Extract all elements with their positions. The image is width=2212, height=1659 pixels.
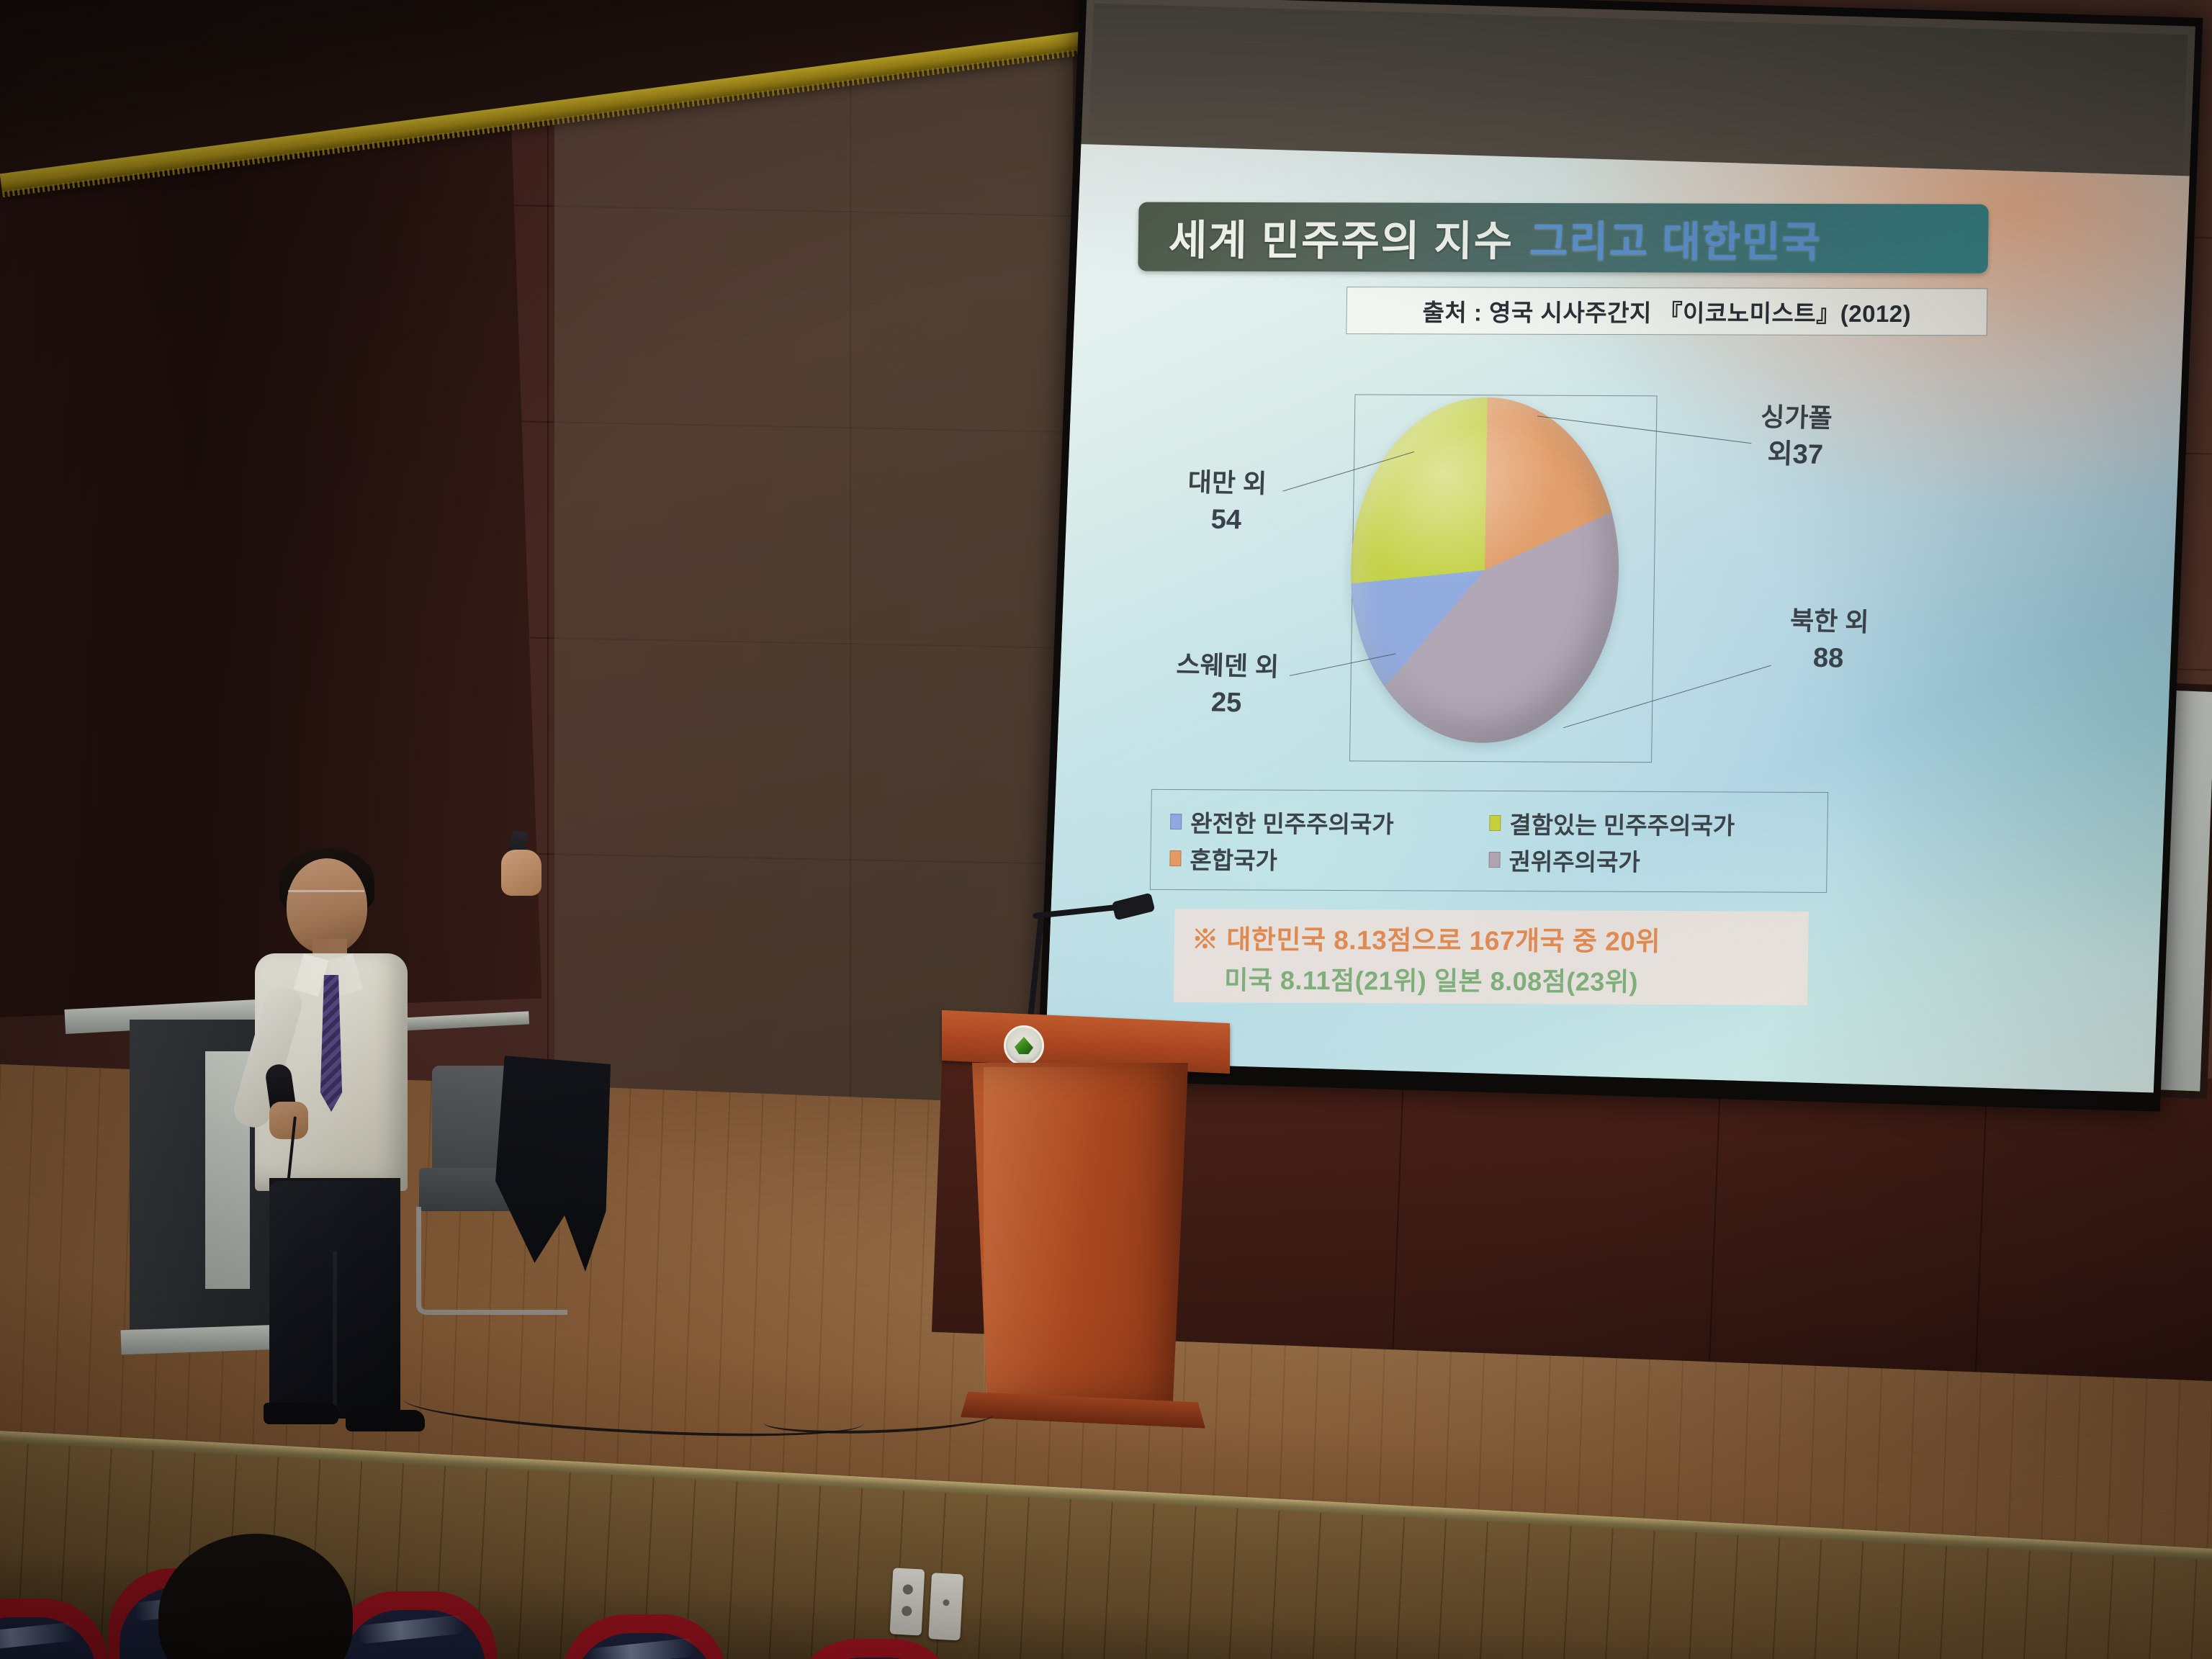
legend-label-full-democracy: 완전한 민주주의국가 bbox=[1190, 804, 1394, 840]
presenter-raised-hand bbox=[501, 850, 541, 896]
pie-label-taiwan-name: 대만 외 bbox=[1187, 467, 1267, 498]
glasses-icon bbox=[288, 890, 364, 902]
leaf-icon bbox=[1015, 1037, 1033, 1054]
slide-source-text: 출처 : 영국 시사주간지 『이코노미스트』(2012) bbox=[1422, 293, 1911, 329]
presenter bbox=[238, 848, 540, 1424]
legend-item-authoritarian: 권위주의국가 bbox=[1488, 842, 1808, 878]
pie-label-northkorea: 북한 외 88 bbox=[1789, 604, 1870, 677]
slide-title-main: 세계 민주주의 지수 bbox=[1168, 207, 1514, 268]
seat-row-item bbox=[0, 1599, 108, 1659]
seat-row-item bbox=[792, 1639, 958, 1659]
pie-label-taiwan: 대만 외 54 bbox=[1186, 466, 1267, 539]
legend-label-flawed-democracy: 결함있는 민주주의국가 bbox=[1509, 806, 1735, 841]
presenter-leg-seam bbox=[333, 1251, 337, 1417]
pie-slices bbox=[1348, 397, 1621, 743]
pie-label-sweden-name: 스웨덴 외 bbox=[1176, 649, 1280, 681]
chart-legend: 완전한 민주주의국가 결함있는 민주주의국가 혼합국가 권위주의국가 bbox=[1150, 789, 1828, 893]
slide-note-line2: 미국 8.11점(21위) 일본 8.08점(23위) bbox=[1191, 959, 1795, 999]
seat-row-item bbox=[562, 1614, 727, 1659]
auditorium-presentation-photo: 세계 민주주의 지수 그리고 대한민국 출처 : 영국 시사주간지 『이코노미스… bbox=[0, 0, 2212, 1659]
presenter-mic-hand bbox=[269, 1102, 308, 1139]
legend-swatch-hybrid-regime bbox=[1169, 850, 1181, 866]
legend-swatch-flawed-democracy bbox=[1489, 814, 1501, 830]
pie-label-taiwan-value: 54 bbox=[1186, 503, 1266, 539]
seat-row-item bbox=[331, 1591, 497, 1659]
pie-label-northkorea-name: 북한 외 bbox=[1789, 606, 1869, 637]
legend-swatch-full-democracy bbox=[1170, 814, 1182, 829]
slide-title-bar: 세계 민주주의 지수 그리고 대한민국 bbox=[1138, 202, 1989, 274]
slide-note-box: ※ 대한민국 8.13점으로 167개국 중 20위 미국 8.11점(21위)… bbox=[1174, 909, 1809, 1005]
slide-title-accent: 그리고 대한민국 bbox=[1529, 207, 1822, 269]
screen-surface: 세계 민주주의 지수 그리고 대한민국 출처 : 영국 시사주간지 『이코노미스… bbox=[1045, 0, 2195, 1092]
presenter-shoe-left bbox=[264, 1403, 338, 1424]
legend-item-full-democracy: 완전한 민주주의국가 bbox=[1170, 804, 1490, 840]
legend-label-hybrid-regime: 혼합국가 bbox=[1190, 841, 1277, 876]
pie-label-sweden-value: 25 bbox=[1174, 685, 1278, 721]
slide-note-line1: ※ 대한민국 8.13점으로 167개국 중 20위 bbox=[1192, 917, 1796, 959]
legend-swatch-authoritarian bbox=[1488, 851, 1500, 867]
slide-source-box: 출처 : 영국 시사주간지 『이코노미스트』(2012) bbox=[1346, 287, 1987, 336]
pie-chart bbox=[1328, 387, 1643, 763]
pie-label-northkorea-value: 88 bbox=[1789, 641, 1869, 677]
pie-label-sweden: 스웨덴 외 25 bbox=[1174, 648, 1280, 721]
podium-emblem-logo bbox=[1004, 1025, 1044, 1066]
pie-label-singapore-value: 외37 bbox=[1759, 437, 1832, 473]
pie-label-singapore: 싱가폴 외37 bbox=[1759, 400, 1833, 473]
projected-slide: 세계 민주주의 지수 그리고 대한민국 출처 : 영국 시사주간지 『이코노미스… bbox=[1045, 144, 2189, 1092]
wooden-podium bbox=[942, 1017, 1230, 1463]
podium-highlight bbox=[984, 1067, 1113, 1398]
legend-item-hybrid-regime: 혼합국가 bbox=[1169, 841, 1489, 877]
projection-screen: 세계 민주주의 지수 그리고 대한민국 출처 : 영국 시사주간지 『이코노미스… bbox=[1037, 0, 2203, 1112]
presenter-shoe-right bbox=[346, 1410, 425, 1431]
legend-label-authoritarian: 권위주의국가 bbox=[1509, 842, 1640, 878]
pie-label-singapore-name: 싱가폴 bbox=[1761, 402, 1833, 433]
legend-item-flawed-democracy: 결함있는 민주주의국가 bbox=[1489, 805, 1809, 841]
